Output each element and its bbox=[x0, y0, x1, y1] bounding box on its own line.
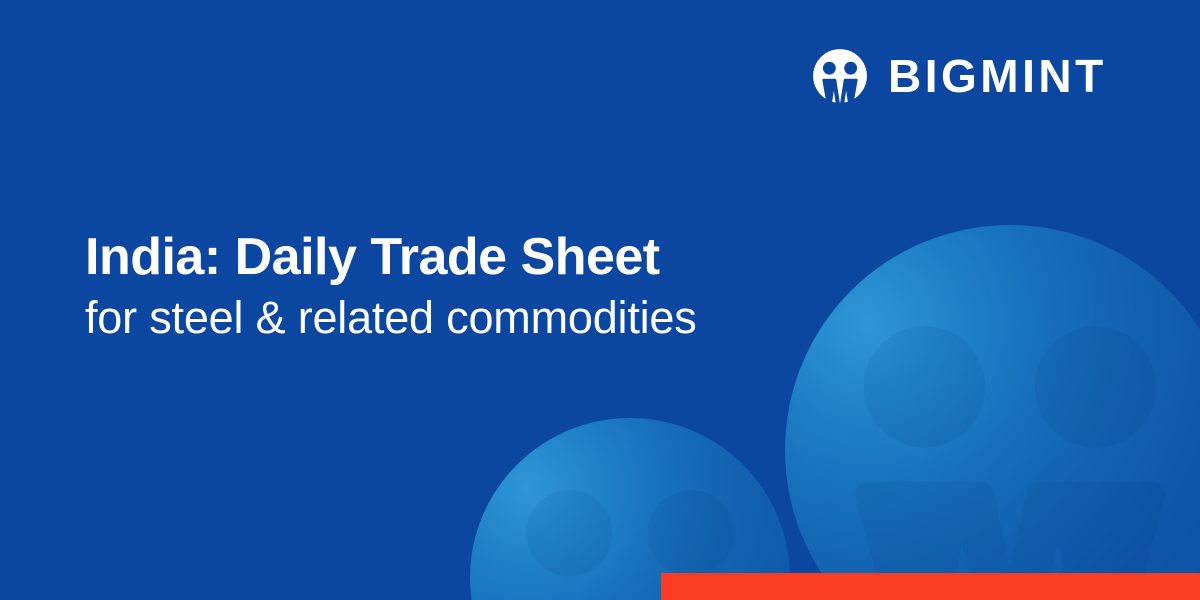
brand-lockup[interactable]: BIGMINT bbox=[812, 48, 1107, 104]
bigmint-people-circle-icon bbox=[812, 48, 868, 104]
accent-bar bbox=[661, 573, 1200, 600]
page-subtitle: for steel & related commodities bbox=[85, 292, 697, 344]
brand-wordmark: BIGMINT bbox=[888, 53, 1107, 99]
page-title: India: Daily Trade Sheet bbox=[85, 228, 697, 286]
headline-block: India: Daily Trade Sheet for steel & rel… bbox=[85, 228, 697, 344]
promo-banner: BIGMINT India: Daily Trade Sheet for ste… bbox=[0, 0, 1200, 600]
decorative-circle-large bbox=[785, 225, 1200, 600]
ghost-bigmint-mark-icon bbox=[785, 225, 1200, 600]
